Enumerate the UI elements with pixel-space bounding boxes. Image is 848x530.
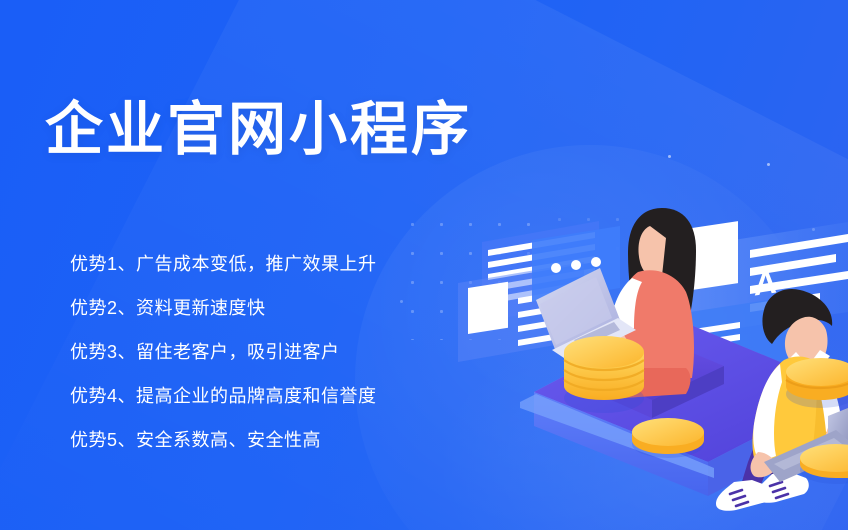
coin-single-floor [800, 444, 848, 484]
benefit-item-4: 优势4、提高企业的品牌高度和信誉度 [70, 387, 377, 405]
benefit-item-5: 优势5、安全系数高、安全性高 [70, 431, 377, 449]
coin-pair-right [786, 358, 848, 408]
coin-single-platform [632, 418, 704, 458]
benefit-item-2: 优势2、资料更新速度快 [70, 299, 377, 317]
benefit-list: 优势1、广告成本变低，推广效果上升 优势2、资料更新速度快 优势3、留住老客户，… [70, 255, 377, 449]
coin-stack-tall [564, 336, 644, 413]
illustration-isometric-office-people: A [424, 0, 848, 530]
benefit-item-1: 优势1、广告成本变低，推广效果上升 [70, 255, 377, 273]
promo-banner: 企业官网小程序 优势1、广告成本变低，推广效果上升 优势2、资料更新速度快 优势… [0, 0, 848, 530]
page-title: 企业官网小程序 [45, 101, 472, 159]
sparkle-dot [400, 300, 403, 303]
benefit-item-3: 优势3、留住老客户，吸引进客户 [70, 343, 377, 361]
